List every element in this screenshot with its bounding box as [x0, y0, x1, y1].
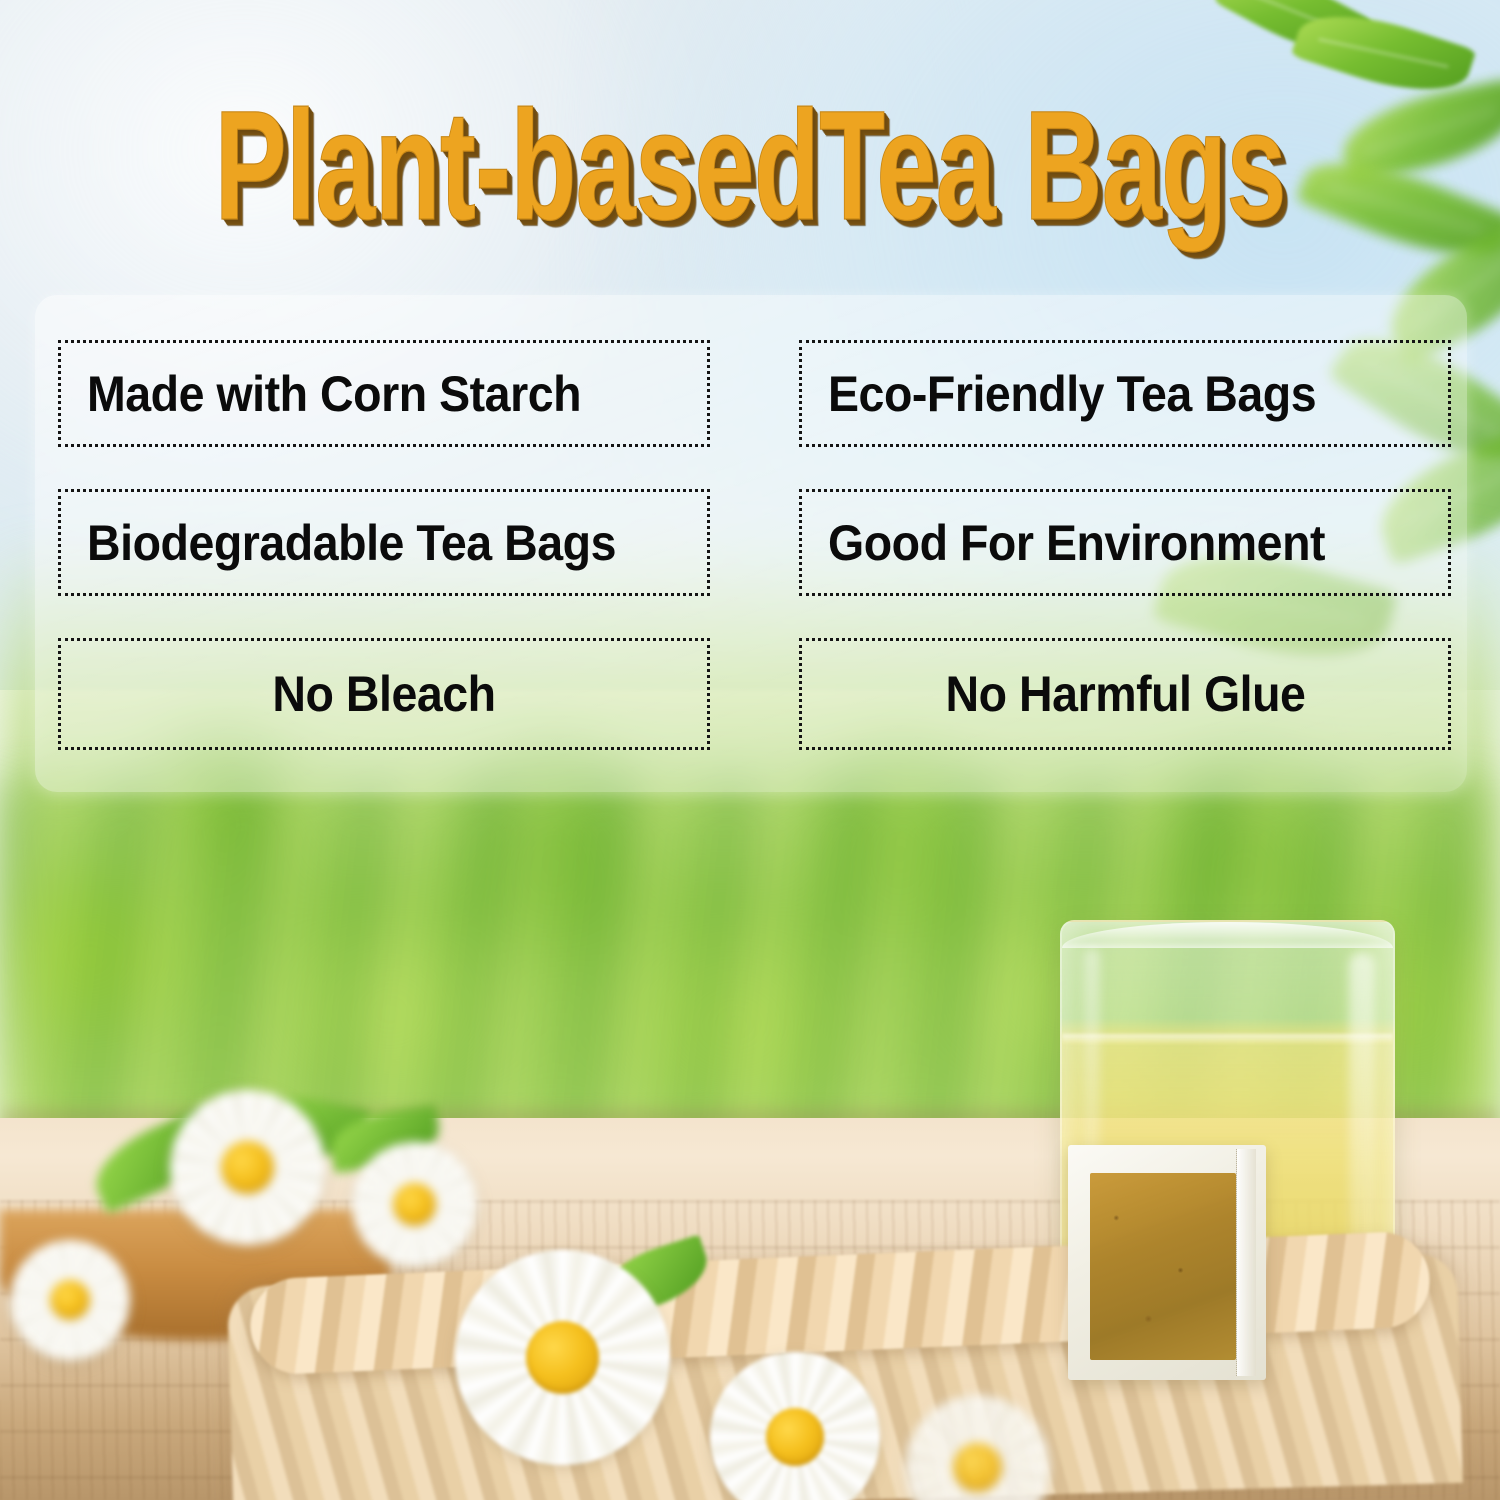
daisy-center — [393, 1183, 436, 1226]
feature-box-eco-friendly-tea-bags[interactable]: Eco-Friendly Tea Bags — [799, 340, 1451, 447]
daisy-flower — [170, 1090, 325, 1245]
daisy-center — [526, 1321, 599, 1394]
feature-label: Biodegradable Tea Bags — [87, 518, 616, 568]
leaf-vein — [1318, 38, 1449, 68]
feature-box-good-for-environment[interactable]: Good For Environment — [799, 489, 1451, 596]
daisy-center — [953, 1443, 1002, 1492]
feature-label: No Harmful Glue — [945, 669, 1305, 719]
product-infographic-poster: Plant-basedTea Bags Made with Corn Starc… — [0, 0, 1500, 1500]
daisy-center — [221, 1141, 274, 1194]
poster-title: Plant-basedTea Bags — [214, 88, 1285, 244]
tea-bag-seam — [1236, 1149, 1256, 1376]
features-grid: Made with Corn Starch Eco-Friendly Tea B… — [58, 340, 1458, 750]
feature-box-no-bleach[interactable]: No Bleach — [58, 638, 710, 750]
glass-rim — [1062, 922, 1393, 948]
feature-label: Good For Environment — [828, 518, 1325, 568]
daisy-flower — [10, 1240, 130, 1360]
feature-label: Made with Corn Starch — [87, 369, 581, 419]
daisy-center — [766, 1408, 824, 1466]
feature-label: No Bleach — [272, 669, 495, 719]
feature-box-no-harmful-glue[interactable]: No Harmful Glue — [799, 638, 1451, 750]
daisy-flower — [710, 1352, 880, 1500]
daisy-flower — [455, 1250, 670, 1465]
feature-label: Eco-Friendly Tea Bags — [828, 369, 1316, 419]
poster-title-container: Plant-basedTea Bags — [0, 88, 1500, 220]
feature-box-biodegradable-tea-bags[interactable]: Biodegradable Tea Bags — [58, 489, 710, 596]
feature-box-made-with-corn-starch[interactable]: Made with Corn Starch — [58, 340, 710, 447]
tea-surface-line — [1062, 1034, 1393, 1044]
daisy-flower — [352, 1142, 477, 1267]
tea-bag-contents — [1090, 1173, 1236, 1360]
daisy-flower — [905, 1395, 1050, 1500]
tea-bag — [1068, 1145, 1266, 1380]
